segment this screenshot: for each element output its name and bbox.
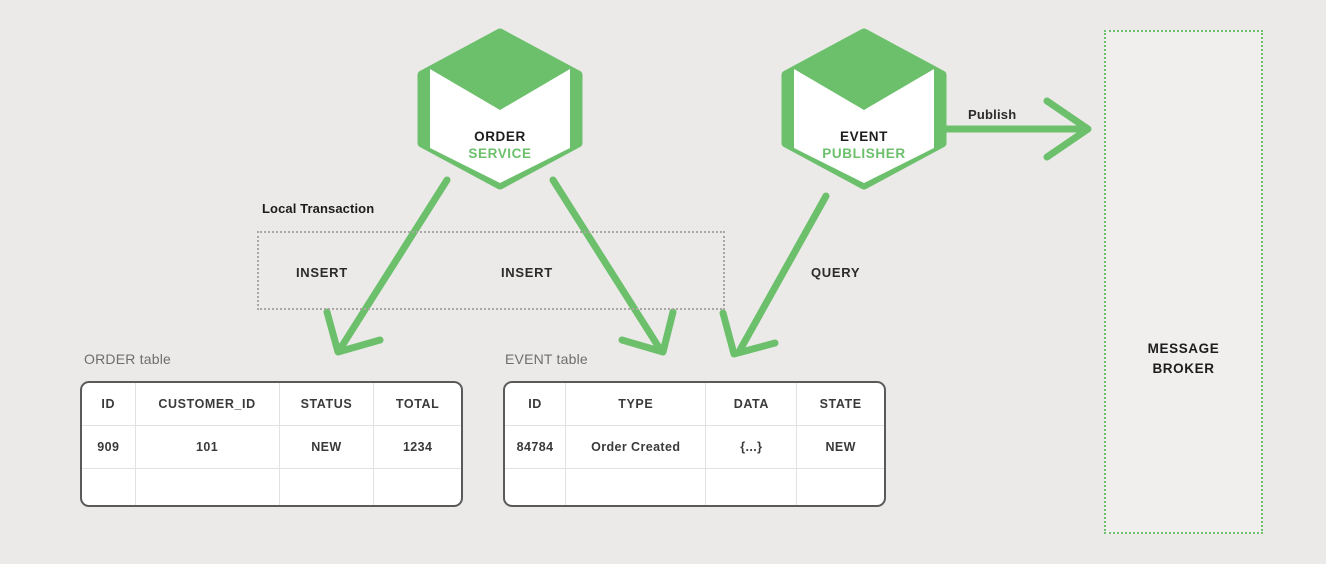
event-cell-empty-1	[505, 469, 566, 508]
diagram-canvas: ORDER SERVICE EVENT PUBLISHER Local Tran…	[0, 0, 1326, 564]
event-table: ID TYPE DATA STATE 84784 Order Created {…	[503, 381, 886, 507]
order-cell-empty-4	[374, 469, 461, 508]
event-publisher-badge[interactable]: EVENT PUBLISHER	[783, 33, 945, 185]
event-table-grid: ID TYPE DATA STATE 84784 Order Created {…	[505, 383, 884, 507]
event-cell-empty-2	[566, 469, 706, 508]
order-table-grid: ID CUSTOMER_ID STATUS TOTAL 909 101 NEW …	[82, 383, 461, 507]
local-transaction-caption: Local Transaction	[262, 201, 374, 216]
order-cell-status: NEW	[279, 426, 374, 469]
edge-label-insert-order: INSERT	[296, 265, 348, 280]
event-cell-type: Order Created	[566, 426, 706, 469]
event-table-caption: EVENT table	[505, 351, 588, 367]
event-col-state: STATE	[797, 383, 884, 426]
order-col-status: STATUS	[279, 383, 374, 426]
order-cell-total: 1234	[374, 426, 461, 469]
table-row	[505, 469, 884, 508]
event-cell-empty-4	[797, 469, 884, 508]
table-row: 909 101 NEW 1234	[82, 426, 461, 469]
message-broker-container	[1104, 30, 1263, 534]
event-cell-empty-3	[706, 469, 797, 508]
edge-label-query: QUERY	[811, 265, 860, 280]
order-table-caption: ORDER table	[84, 351, 171, 367]
order-cell-empty-3	[279, 469, 374, 508]
message-broker-label: MESSAGE BROKER	[1104, 339, 1263, 378]
order-table: ID CUSTOMER_ID STATUS TOTAL 909 101 NEW …	[80, 381, 463, 507]
event-col-id: ID	[505, 383, 566, 426]
table-row: 84784 Order Created {...} NEW	[505, 426, 884, 469]
event-cell-state: NEW	[797, 426, 884, 469]
table-row	[82, 469, 461, 508]
event-col-data: DATA	[706, 383, 797, 426]
order-cell-empty-1	[82, 469, 135, 508]
order-cell-id: 909	[82, 426, 135, 469]
message-broker-line2: BROKER	[1104, 359, 1263, 379]
message-broker-line1: MESSAGE	[1104, 339, 1263, 359]
order-service-title: ORDER	[419, 129, 581, 145]
order-cell-empty-2	[135, 469, 279, 508]
order-service-subtitle: SERVICE	[419, 146, 581, 162]
event-cell-data: {...}	[706, 426, 797, 469]
order-cell-customer-id: 101	[135, 426, 279, 469]
event-cell-id: 84784	[505, 426, 566, 469]
order-col-id: ID	[82, 383, 135, 426]
event-publisher-title: EVENT	[783, 129, 945, 145]
order-col-total: TOTAL	[374, 383, 461, 426]
edge-label-insert-event: INSERT	[501, 265, 553, 280]
edge-label-publish: Publish	[968, 107, 1016, 122]
order-col-customer-id: CUSTOMER_ID	[135, 383, 279, 426]
event-publisher-subtitle: PUBLISHER	[783, 146, 945, 162]
table-header-row: ID CUSTOMER_ID STATUS TOTAL	[82, 383, 461, 426]
event-col-type: TYPE	[566, 383, 706, 426]
table-header-row: ID TYPE DATA STATE	[505, 383, 884, 426]
order-service-badge[interactable]: ORDER SERVICE	[419, 33, 581, 185]
